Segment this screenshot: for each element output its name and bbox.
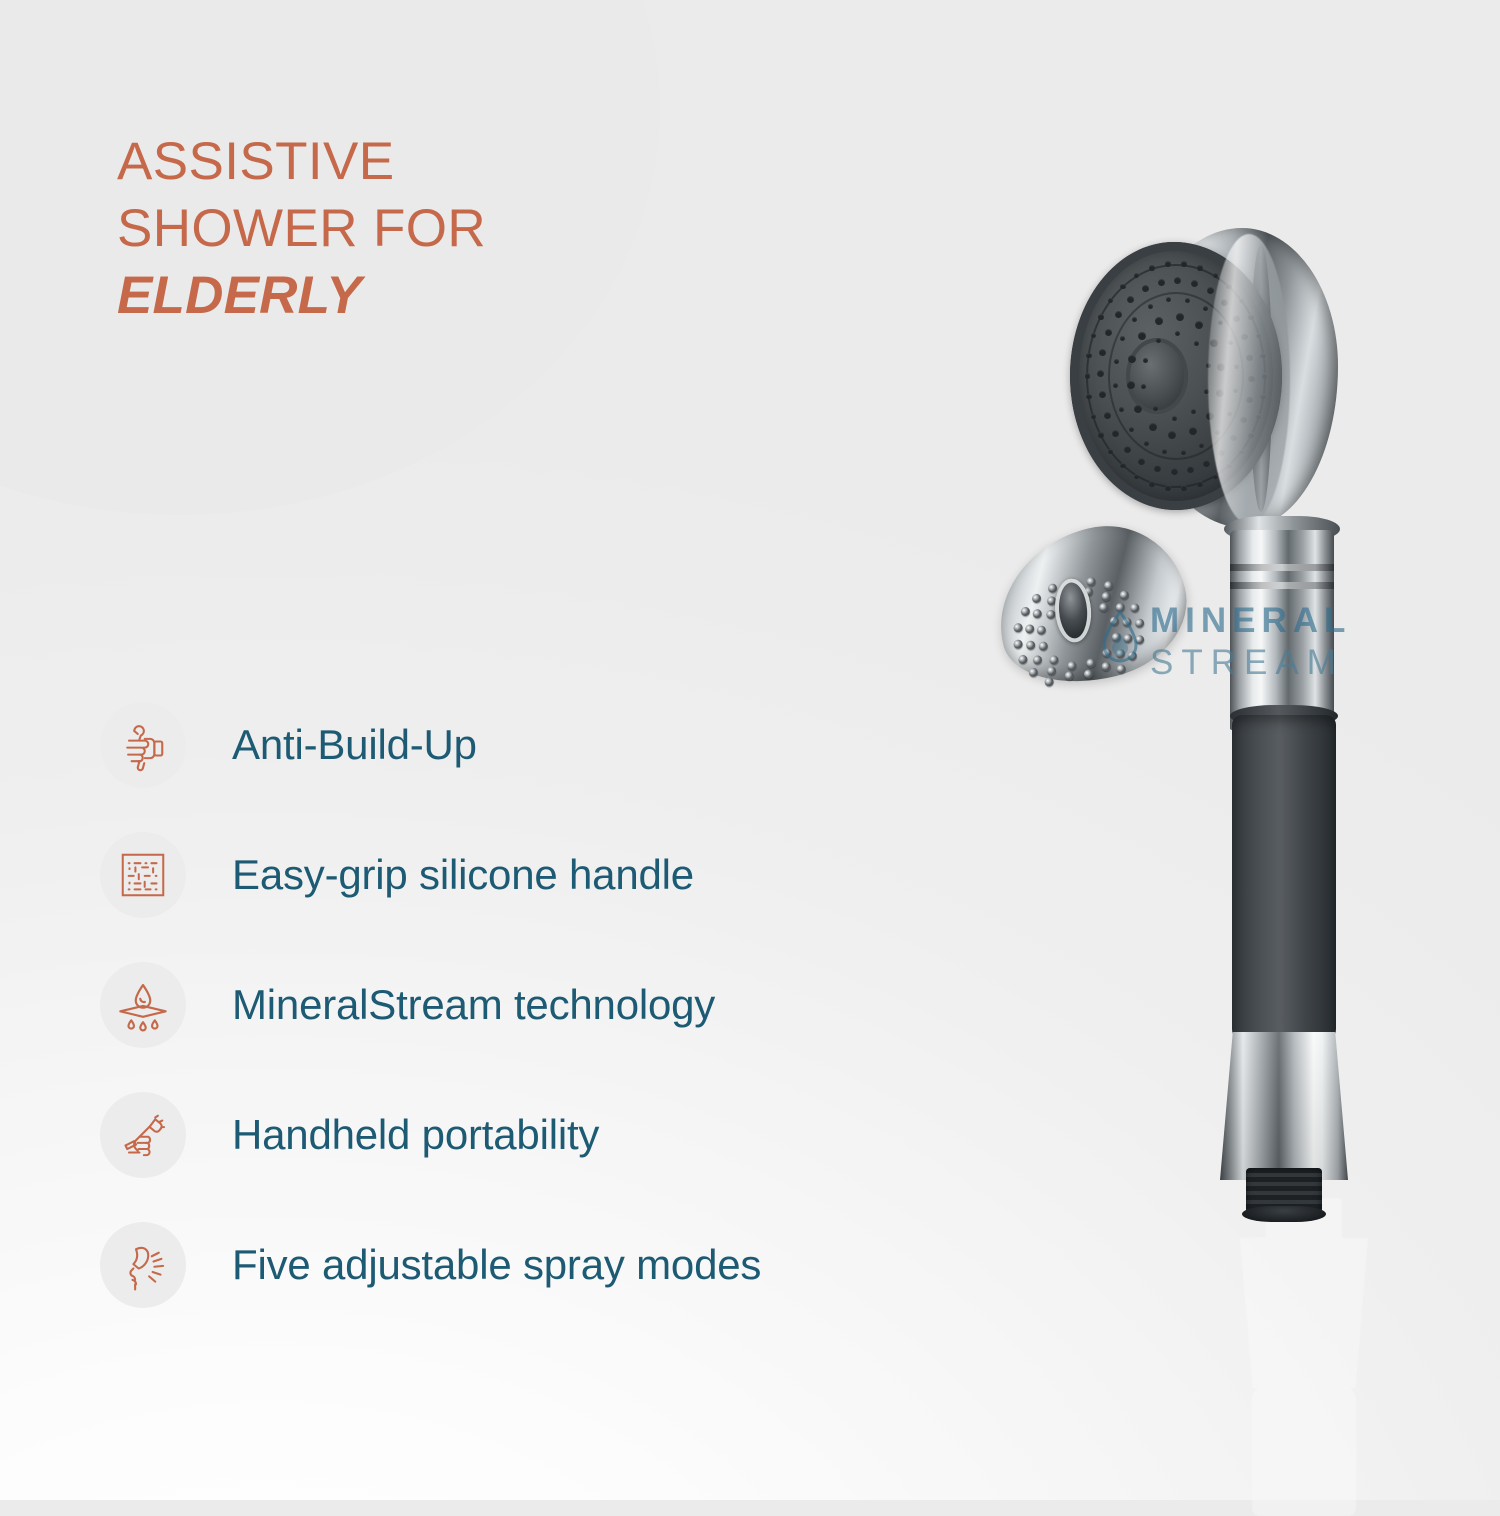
feature-label: Anti-Build-Up — [232, 721, 477, 769]
spray-nozzle — [1185, 298, 1190, 303]
headline-line-3-emphasis: ELDERLY — [117, 262, 677, 329]
tail-dimple — [1085, 576, 1096, 587]
tail-dimple — [1025, 624, 1036, 635]
tail-dimple — [1025, 640, 1036, 651]
chrome-base-shading — [1220, 1032, 1348, 1180]
spray-nozzle — [1189, 427, 1197, 435]
headline-line-2: SHOWER FOR — [117, 199, 486, 258]
spray-nozzle — [1203, 306, 1208, 311]
spray-nozzle — [1165, 261, 1171, 267]
tail-dimple — [1013, 622, 1024, 633]
hand-wrench-icon — [100, 702, 186, 788]
spray-nozzle — [1127, 381, 1135, 389]
spray-nozzle — [1176, 313, 1184, 321]
tail-dimple — [1049, 654, 1060, 665]
spray-nozzle — [1115, 311, 1122, 318]
tail-dimple — [1032, 593, 1043, 604]
spray-nozzle — [1149, 423, 1157, 431]
feature-label: Five adjustable spray modes — [232, 1241, 761, 1289]
spray-nozzle — [1154, 465, 1161, 472]
tail-dimple — [1036, 625, 1047, 636]
tail-dimple — [1083, 669, 1094, 680]
reflection-grip — [1252, 1386, 1356, 1516]
spray-nozzle — [1134, 405, 1142, 413]
watermark-line-2: STREAM — [1150, 643, 1344, 683]
hose-thread-end-cap — [1242, 1206, 1326, 1222]
nozzle-hub — [1126, 338, 1188, 414]
spray-nozzle — [1191, 280, 1198, 287]
feature-label: MineralStream technology — [232, 981, 715, 1029]
brand-watermark: MINERAL STREAM — [1098, 595, 1418, 705]
spray-nozzle — [1197, 481, 1203, 487]
spray-nozzle — [1104, 412, 1111, 419]
feature-row-handheld-portability: Handheld portability — [100, 1070, 1080, 1200]
silicone-grip-handle — [1232, 715, 1336, 1045]
feature-row-mineralstream-technology: MineralStream technology — [100, 940, 1080, 1070]
spray-nozzle — [1197, 265, 1203, 271]
spray-nozzle — [1149, 265, 1155, 271]
tail-dimple — [1038, 641, 1049, 652]
spray-nozzle — [1153, 406, 1158, 411]
headline-line-1: ASSISTIVE — [117, 132, 395, 191]
page-title: ASSISTIVE SHOWER FOR ELDERLY — [117, 128, 677, 329]
feature-row-easy-grip-handle: Easy-grip silicone handle — [100, 810, 1080, 940]
tail-dimple — [1032, 608, 1043, 619]
spray-nozzle — [1166, 297, 1171, 302]
spray-nozzle — [1098, 432, 1104, 438]
water-drop-filter-icon — [100, 962, 186, 1048]
spray-nozzle — [1119, 407, 1124, 412]
feature-list: Anti-Build-Up Easy-grip silicone handle — [100, 680, 1080, 1330]
tail-dimple — [1046, 666, 1057, 677]
spray-nozzle — [1129, 427, 1134, 432]
spray-nozzle — [1128, 355, 1136, 363]
spray-nozzle — [1124, 446, 1131, 453]
feature-label: Easy-grip silicone handle — [232, 851, 694, 899]
tail-dimple — [1066, 660, 1077, 671]
spray-nozzle — [1138, 458, 1145, 465]
watermark-line-1: MINERAL — [1150, 601, 1351, 641]
tail-dimple — [1018, 654, 1029, 665]
reflection-base — [1240, 1238, 1368, 1388]
feature-row-five-spray-modes: Five adjustable spray modes — [100, 1200, 1080, 1330]
neck-ring-upper — [1230, 564, 1334, 571]
shower-head-chrome-bezel — [1208, 234, 1290, 524]
spray-nozzle — [1171, 468, 1178, 475]
spray-nozzle — [1148, 304, 1153, 309]
tail-dimple — [1032, 655, 1043, 666]
spray-nozzle — [1120, 463, 1126, 469]
tail-dimple — [1012, 639, 1023, 650]
spray-nozzle — [1098, 314, 1104, 320]
grip-texture-grid-icon — [100, 832, 186, 918]
tail-dimple — [1086, 658, 1097, 669]
spray-nozzle — [1120, 284, 1126, 290]
spray-nozzle — [1099, 391, 1106, 398]
hand-holding-showerhead-icon — [100, 1092, 186, 1178]
spray-nozzle — [1156, 338, 1161, 343]
spray-nozzle — [1143, 358, 1148, 363]
neck-ring-lower — [1230, 582, 1334, 589]
feature-row-anti-build-up: Anti-Build-Up — [100, 680, 1080, 810]
spray-nozzle — [1158, 279, 1165, 286]
spray-nozzle — [1181, 261, 1187, 267]
spray-nozzle — [1172, 416, 1177, 421]
water-drop-logo-icon — [1098, 609, 1142, 667]
spray-nozzle — [1142, 285, 1149, 292]
showerhead-spray-icon — [100, 1222, 186, 1308]
tail-dimple — [1020, 607, 1031, 618]
tail-dimple — [1103, 580, 1114, 591]
tail-dimple — [1028, 667, 1039, 678]
spray-nozzle — [1086, 353, 1092, 359]
feature-label: Handheld portability — [232, 1111, 599, 1159]
